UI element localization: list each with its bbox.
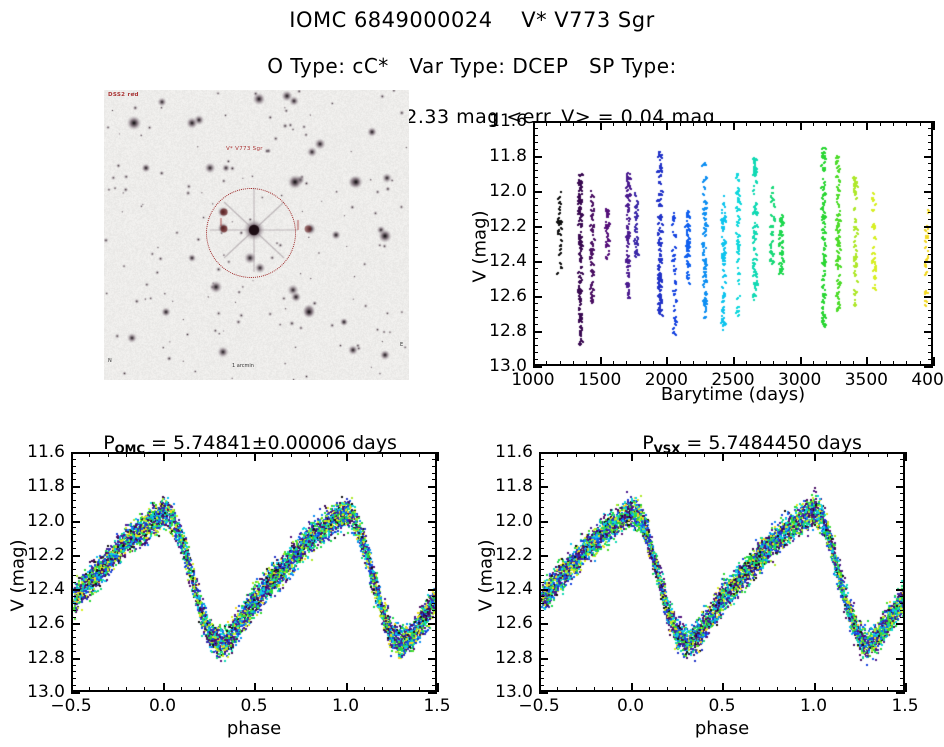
axis-tick <box>432 603 437 604</box>
axis-tick <box>539 514 544 515</box>
finder-chart-image: DSS2 red V* V773 Sgr 1 arcmin N E <box>104 90 409 380</box>
axis-tick <box>533 247 538 248</box>
axis-tick <box>533 226 542 228</box>
axis-tick <box>71 466 76 467</box>
axis-tick <box>428 521 437 523</box>
axis-tick <box>71 658 80 660</box>
x-tick-label: −0.5 <box>494 696 584 716</box>
axis-tick <box>900 541 905 542</box>
axis-tick <box>432 527 437 528</box>
y-tick-label: 11.6 <box>471 111 527 131</box>
axis-tick <box>126 452 127 457</box>
axis-tick <box>720 361 721 366</box>
axis-tick <box>432 493 437 494</box>
axis-tick <box>928 135 933 136</box>
axis-tick <box>896 692 905 694</box>
x-tick-label: 0.0 <box>118 696 208 716</box>
axis-tick <box>71 459 76 460</box>
axis-tick <box>900 466 905 467</box>
axis-tick <box>933 357 935 366</box>
axis-tick <box>432 685 437 686</box>
axis-tick <box>432 507 437 508</box>
axis-tick <box>896 623 905 625</box>
axis-tick <box>533 163 538 164</box>
axis-tick <box>653 361 654 366</box>
finder-survey-label: DSS2 red <box>108 92 139 98</box>
axis-tick <box>924 226 933 228</box>
axis-tick <box>600 357 602 366</box>
axis-tick <box>108 452 109 457</box>
axis-tick <box>432 534 437 535</box>
axis-tick <box>71 685 76 686</box>
axis-tick <box>850 452 851 457</box>
axis-tick <box>539 685 544 686</box>
axis-tick <box>382 452 383 457</box>
axis-tick <box>900 671 905 672</box>
y-tick-label: 12.8 <box>9 648 65 668</box>
axis-tick <box>539 507 544 508</box>
axis-tick <box>432 582 437 583</box>
x-tick-label: 1.5 <box>392 696 482 716</box>
axis-tick <box>928 289 933 290</box>
axis-tick <box>163 452 165 461</box>
axis-tick <box>71 575 76 576</box>
axis-tick <box>773 121 774 126</box>
axis-tick <box>432 665 437 666</box>
axis-tick <box>163 683 165 692</box>
axis-tick <box>557 687 558 692</box>
axis-tick <box>419 452 420 457</box>
y-tick-label: 11.8 <box>477 476 533 496</box>
axis-tick <box>71 479 76 480</box>
axis-tick <box>432 473 437 474</box>
axis-tick <box>880 361 881 366</box>
axis-tick <box>866 357 868 366</box>
axis-tick <box>928 177 933 178</box>
axis-tick <box>760 121 761 126</box>
axis-tick <box>905 683 907 692</box>
axis-tick <box>346 683 348 692</box>
finder-east-label: E <box>400 342 403 348</box>
axis-tick <box>533 275 538 276</box>
axis-tick <box>432 678 437 679</box>
axis-tick <box>236 452 237 457</box>
axis-tick <box>539 644 544 645</box>
axis-tick <box>880 121 881 126</box>
axis-tick <box>680 121 681 126</box>
axis-tick <box>928 128 933 129</box>
vsx-period-value: = 5.7484450 days <box>680 432 862 454</box>
axis-tick <box>533 135 538 136</box>
axis-tick <box>546 121 547 126</box>
x-tick-label: 0.5 <box>677 696 767 716</box>
axis-tick <box>626 361 627 366</box>
axis-tick <box>900 665 905 666</box>
axis-tick <box>928 240 933 241</box>
axis-tick <box>573 121 574 126</box>
axis-tick <box>309 687 310 692</box>
axis-tick <box>813 121 814 126</box>
axis-tick <box>71 569 76 570</box>
axis-tick <box>346 452 348 461</box>
axis-tick <box>814 683 816 692</box>
axis-tick <box>89 687 90 692</box>
axis-tick <box>539 466 544 467</box>
axis-tick <box>868 452 869 457</box>
axis-tick <box>900 603 905 604</box>
axis-tick <box>432 459 437 460</box>
axis-tick <box>840 361 841 366</box>
axis-tick <box>539 473 544 474</box>
axis-tick <box>896 521 905 523</box>
x-tick-label: 0.5 <box>209 696 299 716</box>
axis-tick <box>71 644 76 645</box>
axis-tick <box>900 473 905 474</box>
axis-tick <box>900 610 905 611</box>
axis-tick <box>364 452 365 457</box>
axis-tick <box>928 268 933 269</box>
axis-tick <box>920 121 921 126</box>
axis-tick <box>539 617 544 618</box>
axis-tick <box>853 361 854 366</box>
axis-tick <box>826 361 827 366</box>
axis-tick <box>432 562 437 563</box>
axis-tick <box>853 121 854 126</box>
axis-tick <box>327 687 328 692</box>
axis-tick <box>814 452 816 461</box>
axis-tick <box>71 452 80 454</box>
y-tick-label: 11.8 <box>9 476 65 496</box>
axis-tick <box>557 452 558 457</box>
axis-tick <box>89 452 90 457</box>
axis-tick <box>800 357 802 366</box>
axis-tick <box>539 555 548 557</box>
vsx-datapoints <box>541 454 903 690</box>
y-tick-label: 12.8 <box>471 321 527 341</box>
axis-tick <box>539 678 544 679</box>
vsx-xaxis-title: phase <box>539 718 905 739</box>
axis-tick <box>928 212 933 213</box>
axis-tick <box>71 555 80 557</box>
axis-tick <box>693 361 694 366</box>
axis-tick <box>928 338 933 339</box>
axis-tick <box>680 361 681 366</box>
axis-tick <box>432 630 437 631</box>
axis-tick <box>432 548 437 549</box>
axis-tick <box>533 240 538 241</box>
axis-tick <box>887 687 888 692</box>
axis-tick <box>631 683 633 692</box>
axis-tick <box>759 687 760 692</box>
axis-tick <box>533 296 542 298</box>
axis-tick <box>666 357 668 366</box>
axis-tick <box>437 452 439 461</box>
axis-tick <box>428 452 437 454</box>
y-tick-label: 11.8 <box>471 146 527 166</box>
axis-tick <box>900 527 905 528</box>
axis-tick <box>786 361 787 366</box>
axis-tick <box>539 603 544 604</box>
axis-tick <box>928 184 933 185</box>
axis-tick <box>600 121 602 130</box>
axis-tick <box>432 651 437 652</box>
axis-tick <box>71 630 76 631</box>
axis-tick <box>539 671 544 672</box>
axis-tick <box>850 687 851 692</box>
axis-tick <box>539 623 548 625</box>
axis-tick <box>71 514 76 515</box>
axis-tick <box>533 212 538 213</box>
timeseries-xaxis-title: Barytime (days) <box>533 384 933 405</box>
axis-tick <box>539 651 544 652</box>
axis-tick <box>840 121 841 126</box>
axis-tick <box>928 310 933 311</box>
axis-tick <box>254 452 256 461</box>
omc-plot-frame <box>71 452 437 692</box>
axis-tick <box>640 121 641 126</box>
axis-tick <box>533 324 538 325</box>
axis-tick <box>533 170 538 171</box>
axis-tick <box>649 687 650 692</box>
axis-tick <box>900 459 905 460</box>
finder-north-label: N <box>108 358 112 364</box>
axis-tick <box>539 486 548 488</box>
axis-tick <box>400 687 401 692</box>
axis-tick <box>428 589 437 591</box>
axis-tick <box>71 610 76 611</box>
axis-tick <box>924 296 933 298</box>
axis-tick <box>428 486 437 488</box>
axis-tick <box>928 282 933 283</box>
axis-tick <box>382 687 383 692</box>
axis-tick <box>199 452 200 457</box>
axis-tick <box>560 121 561 126</box>
axis-tick <box>900 548 905 549</box>
axis-tick <box>533 177 538 178</box>
axis-tick <box>685 452 686 457</box>
axis-tick <box>896 658 905 660</box>
axis-tick <box>720 121 721 126</box>
axis-tick <box>800 121 802 130</box>
axis-tick <box>533 345 538 346</box>
axis-tick <box>900 569 905 570</box>
omc-datapoints <box>73 454 435 690</box>
axis-tick <box>327 452 328 457</box>
axis-tick <box>71 534 76 535</box>
axis-tick <box>928 163 933 164</box>
axis-tick <box>539 692 548 694</box>
axis-tick <box>900 637 905 638</box>
object-type-line: O Type: cC* Var Type: DCEP SP Type: <box>0 54 944 78</box>
axis-tick <box>432 644 437 645</box>
axis-tick <box>364 687 365 692</box>
axis-tick <box>928 254 933 255</box>
axis-tick <box>813 361 814 366</box>
axis-tick <box>533 282 538 283</box>
axis-tick <box>181 452 182 457</box>
axis-tick <box>826 121 827 126</box>
axis-tick <box>217 452 218 457</box>
timeseries-datapoints <box>535 123 931 364</box>
axis-tick <box>432 575 437 576</box>
axis-tick <box>612 687 613 692</box>
x-tick-label: 1.0 <box>769 696 859 716</box>
axis-tick <box>900 651 905 652</box>
axis-tick <box>928 324 933 325</box>
axis-tick <box>924 366 933 368</box>
axis-tick <box>900 575 905 576</box>
axis-tick <box>900 644 905 645</box>
axis-tick <box>533 191 542 193</box>
axis-tick <box>533 184 538 185</box>
x-tick-label: 1.5 <box>860 696 944 716</box>
axis-tick <box>928 219 933 220</box>
finder-target-label: V* V773 Sgr <box>226 146 263 152</box>
axis-tick <box>740 687 741 692</box>
x-tick-label: −0.5 <box>26 696 116 716</box>
axis-tick <box>612 452 613 457</box>
axis-tick <box>928 142 933 143</box>
vsx-period-symbol: P <box>642 432 653 454</box>
axis-tick <box>722 683 724 692</box>
axis-tick <box>586 361 587 366</box>
axis-tick <box>539 562 544 563</box>
axis-tick <box>928 198 933 199</box>
axis-tick <box>181 687 182 692</box>
y-tick-label: 11.6 <box>477 442 533 462</box>
axis-tick <box>900 685 905 686</box>
axis-tick <box>900 617 905 618</box>
axis-tick <box>71 473 76 474</box>
axis-tick <box>533 359 538 360</box>
axis-tick <box>928 352 933 353</box>
axis-tick <box>539 589 548 591</box>
axis-tick <box>928 233 933 234</box>
vsx-plot-frame <box>539 452 905 692</box>
axis-tick <box>613 121 614 126</box>
axis-tick <box>631 452 633 461</box>
axis-tick <box>900 507 905 508</box>
y-tick-label: 11.6 <box>9 442 65 462</box>
axis-tick <box>71 603 76 604</box>
axis-tick <box>746 361 747 366</box>
axis-tick <box>760 361 761 366</box>
axis-tick <box>594 687 595 692</box>
axis-tick <box>900 630 905 631</box>
axis-tick <box>928 359 933 360</box>
axis-tick <box>706 361 707 366</box>
axis-tick <box>533 303 538 304</box>
axis-tick <box>896 555 905 557</box>
axis-tick <box>533 366 542 368</box>
axis-tick <box>71 665 76 666</box>
axis-tick <box>432 514 437 515</box>
axis-tick <box>539 527 544 528</box>
axis-tick <box>773 361 774 366</box>
axis-tick <box>144 687 145 692</box>
axis-tick <box>539 582 544 583</box>
axis-tick <box>71 692 80 694</box>
axis-tick <box>733 121 735 130</box>
y-tick-label: 12.8 <box>477 648 533 668</box>
axis-tick <box>71 617 76 618</box>
axis-tick <box>640 361 641 366</box>
axis-tick <box>539 534 544 535</box>
x-tick-label: 1.0 <box>301 696 391 716</box>
axis-tick <box>586 121 587 126</box>
axis-tick <box>254 683 256 692</box>
axis-tick <box>722 452 724 461</box>
axis-tick <box>533 289 538 290</box>
finder-scale-label: 1 arcmin <box>232 363 254 369</box>
axis-tick <box>533 254 538 255</box>
omc-period-symbol: P <box>103 432 114 454</box>
axis-tick <box>740 452 741 457</box>
axis-tick <box>533 261 542 263</box>
axis-tick <box>432 671 437 672</box>
axis-tick <box>533 352 538 353</box>
axis-tick <box>573 361 574 366</box>
axis-tick <box>653 121 654 126</box>
axis-tick <box>126 687 127 692</box>
axis-tick <box>539 596 544 597</box>
axis-tick <box>928 303 933 304</box>
axis-tick <box>613 361 614 366</box>
axis-tick <box>432 569 437 570</box>
axis-tick <box>533 233 538 234</box>
axis-tick <box>144 452 145 457</box>
axis-tick <box>893 361 894 366</box>
axis-tick <box>437 683 439 692</box>
axis-tick <box>533 310 538 311</box>
axis-tick <box>539 493 544 494</box>
axis-tick <box>71 507 76 508</box>
axis-tick <box>900 493 905 494</box>
axis-tick <box>432 479 437 480</box>
axis-tick <box>291 452 292 457</box>
axis-tick <box>777 687 778 692</box>
axis-tick <box>704 687 705 692</box>
axis-tick <box>893 121 894 126</box>
axis-tick <box>924 121 933 123</box>
axis-tick <box>887 452 888 457</box>
axis-tick <box>539 658 548 660</box>
axis-tick <box>924 261 933 263</box>
axis-tick <box>533 149 538 150</box>
axis-tick <box>272 687 273 692</box>
axis-tick <box>900 562 905 563</box>
axis-tick <box>906 121 907 126</box>
timeseries-plot-frame <box>533 121 933 366</box>
axis-tick <box>428 692 437 694</box>
axis-tick <box>539 665 544 666</box>
axis-tick <box>928 149 933 150</box>
axis-tick <box>786 121 787 126</box>
axis-tick <box>900 500 905 501</box>
axis-tick <box>432 466 437 467</box>
axis-tick <box>272 452 273 457</box>
axis-tick <box>539 630 544 631</box>
axis-tick <box>896 452 905 454</box>
omc-xaxis-title: phase <box>71 718 437 739</box>
axis-tick <box>533 331 542 333</box>
axis-tick <box>777 452 778 457</box>
axis-tick <box>900 582 905 583</box>
axis-tick <box>832 687 833 692</box>
axis-tick <box>217 687 218 692</box>
axis-tick <box>428 555 437 557</box>
axis-tick <box>539 610 544 611</box>
